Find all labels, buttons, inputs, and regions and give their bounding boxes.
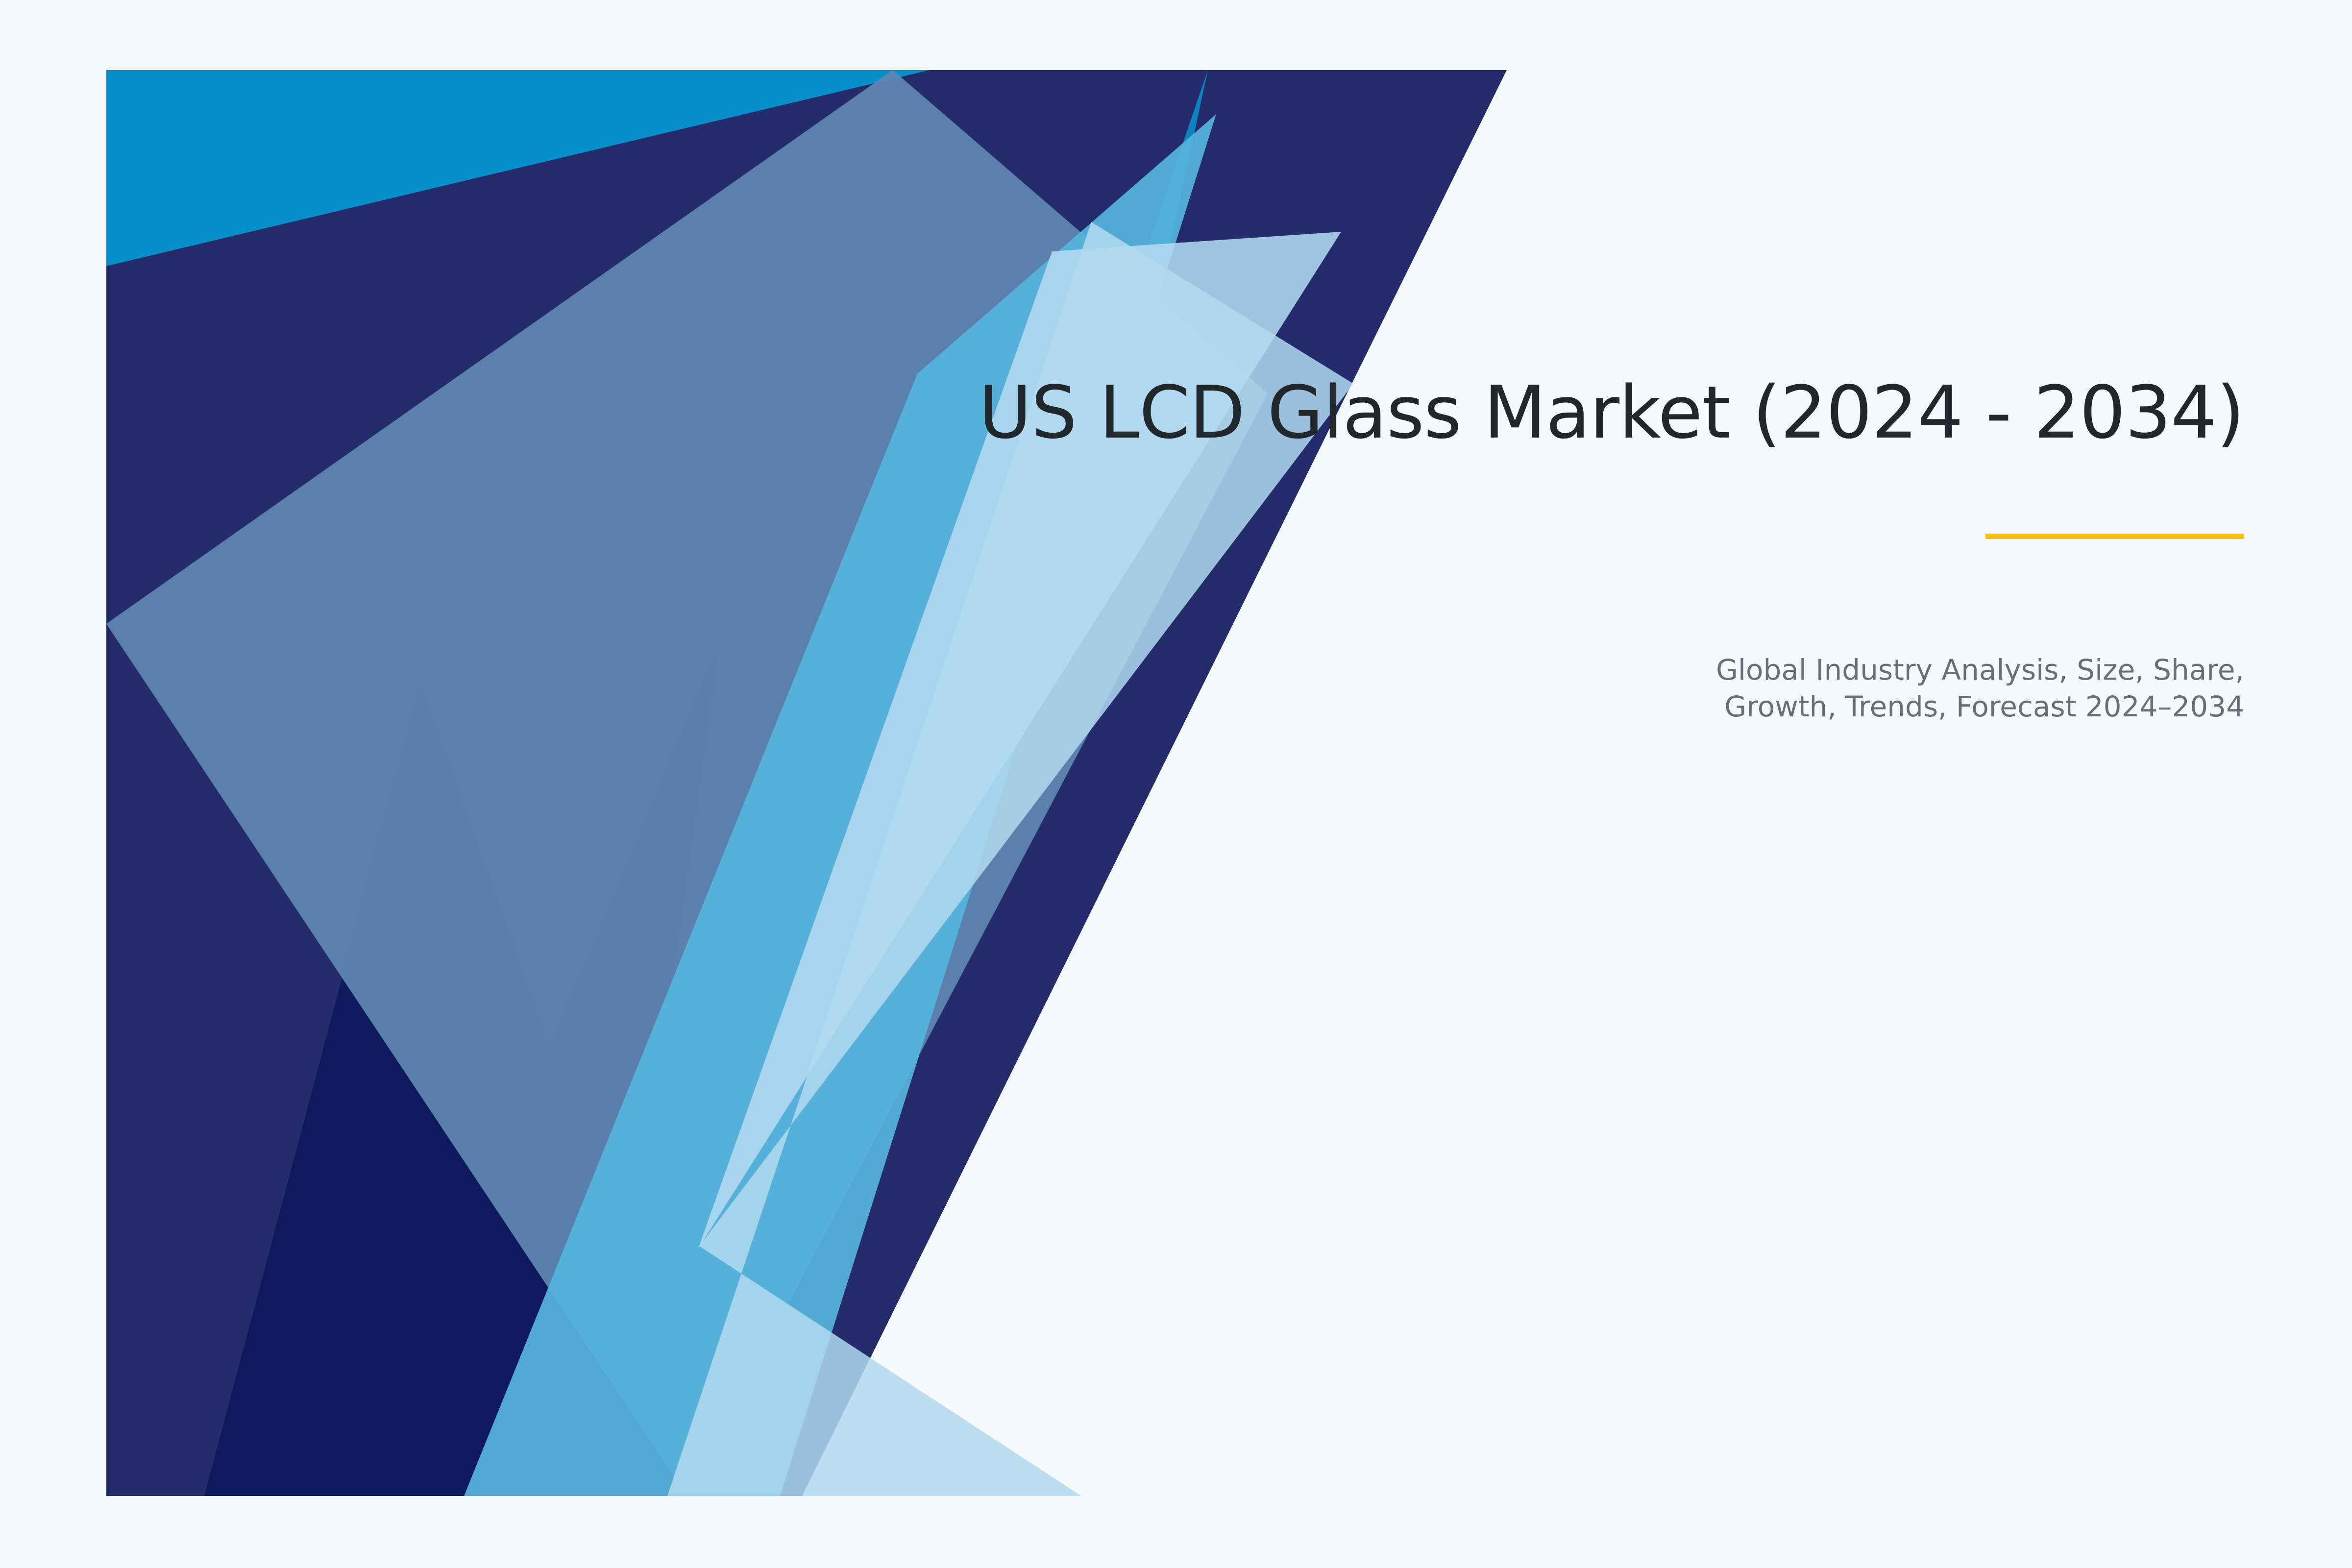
page-subtitle-line-1: Global Industry Analysis, Size, Share, [1519,652,2244,688]
title-block: US LCD Glass Market (2024 - 2034) [833,372,2244,454]
cover-page: US LCD Glass Market (2024 - 2034) Global… [0,0,2352,1568]
subtitle-block: Global Industry Analysis, Size, Share, G… [1519,652,2244,726]
page-title: US LCD Glass Market (2024 - 2034) [833,372,2244,454]
yellow-divider-rule [1985,534,2244,539]
accent-rule-container [1666,532,2244,541]
artwork-panel [106,70,1507,1496]
page-subtitle-line-2: Growth, Trends, Forecast 2024–2034 [1519,688,2244,725]
abstract-geometric-polygons [106,70,1507,1496]
